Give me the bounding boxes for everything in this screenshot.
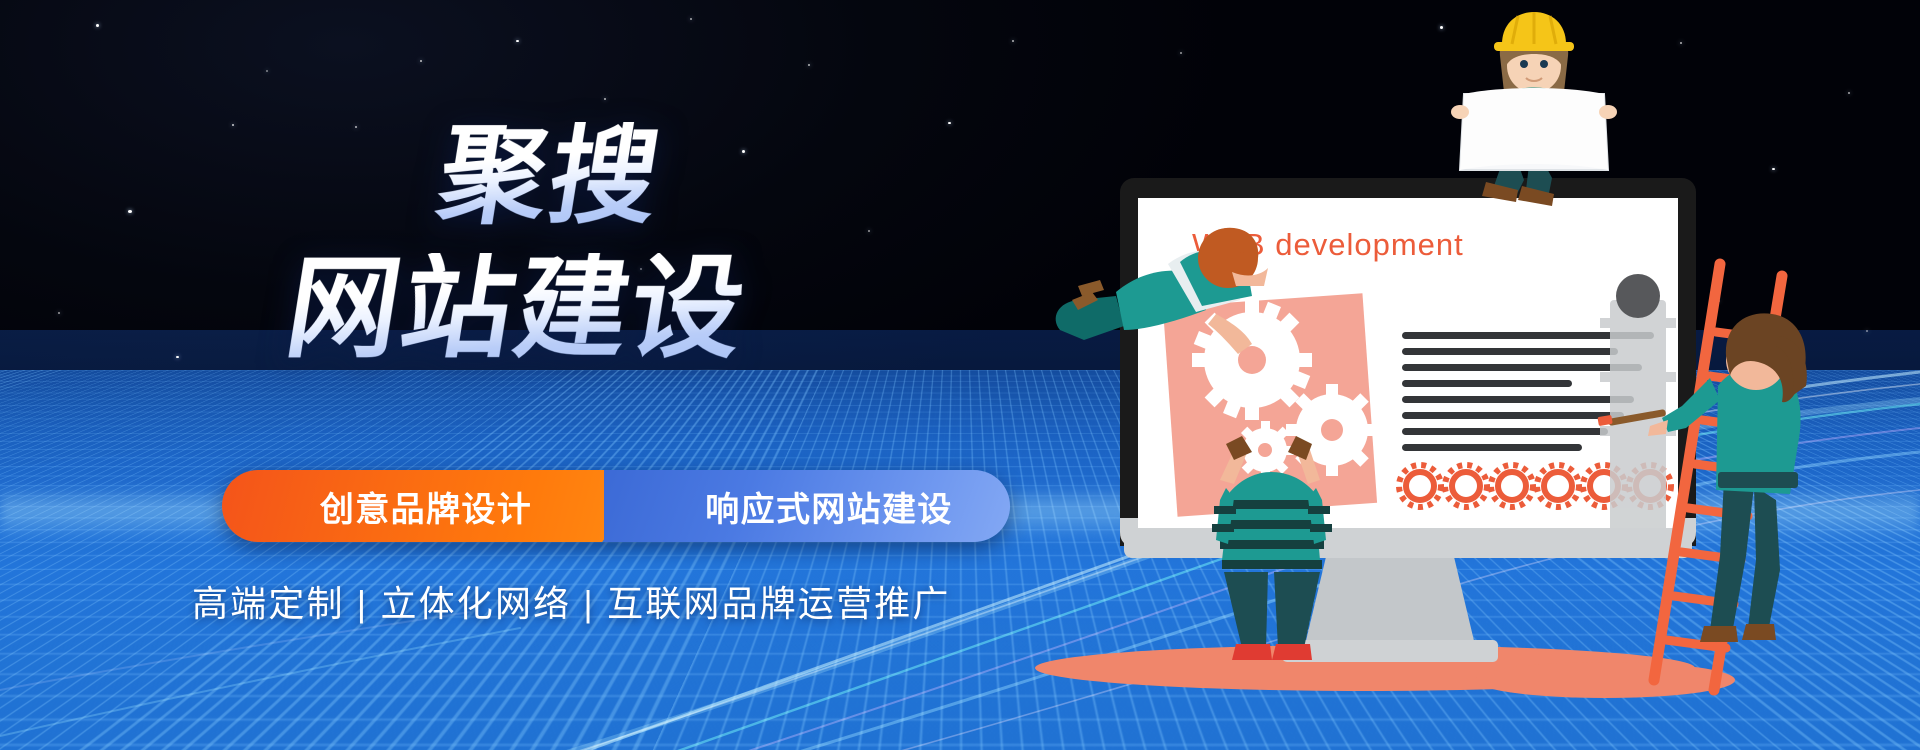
tag-responsive-web-build[interactable]: 响应式网站建设 bbox=[604, 470, 1010, 542]
service-tags-pill: 创意品牌设计 响应式网站建设 bbox=[222, 470, 1010, 542]
tag-creative-brand-design[interactable]: 创意品牌设计 bbox=[222, 470, 654, 542]
person-on-top-with-blueprint bbox=[1451, 12, 1617, 206]
copy-block: 聚搜 网站建设 创意品牌设计 响应式网站建设 高端定制 | 立体化网络 | 互联… bbox=[0, 0, 1060, 750]
web-development-illustration: WEB development bbox=[1020, 0, 1920, 750]
headline: 网站建设 bbox=[279, 253, 754, 365]
scaffold bbox=[1600, 274, 1676, 540]
brand-title: 聚搜 bbox=[431, 122, 668, 230]
web-development-promo-banner: 聚搜 网站建设 创意品牌设计 响应式网站建设 高端定制 | 立体化网络 | 互联… bbox=[0, 0, 1920, 750]
subtitle: 高端定制 | 立体化网络 | 互联网品牌运营推广 bbox=[192, 575, 951, 627]
